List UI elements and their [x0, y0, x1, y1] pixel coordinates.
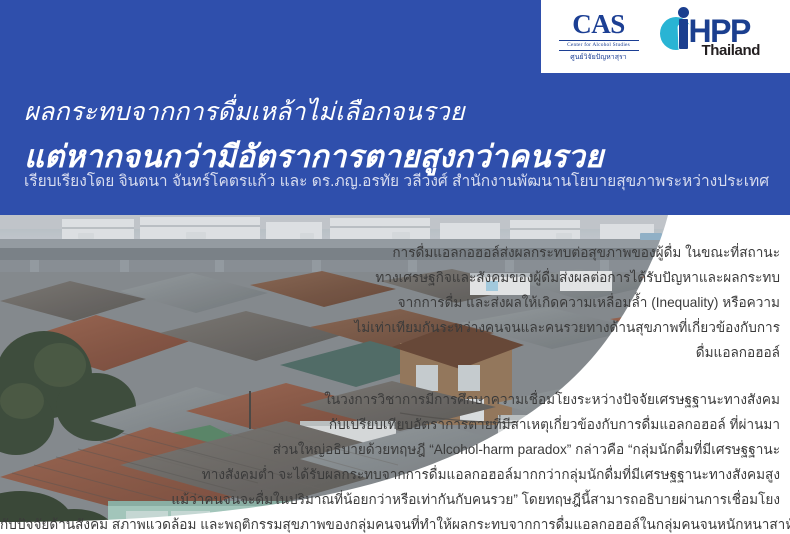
- cas-logo: CAS Center for Alcohol Studies ศูนย์วิจั…: [556, 6, 642, 68]
- ihpp-country-label: Thailand: [702, 43, 760, 59]
- cas-wordmark: CAS: [572, 11, 625, 38]
- page-title-line-1: ผลกระทบจากการดื่มเหล้าไม่เลือกจนรวย: [24, 97, 764, 127]
- body-line: ทางสังคมต่ำ จะได้รับผลกระทบจากการดื่มแอล…: [0, 462, 780, 487]
- article-body: การดื่มแอลกอฮอล์ส่งผลกระทบต่อสุขภาพของผู…: [0, 240, 790, 534]
- paragraph-2: ในวงการวิชาการมีการศึกษาความเชื่อมโยงระห…: [0, 387, 790, 534]
- paragraph-spacer: [0, 365, 790, 387]
- body-line: ในวงการวิชาการมีการศึกษาความเชื่อมโยงระห…: [0, 387, 780, 412]
- body-line: ทางเศรษฐกิจและสังคมของผู้ดื่มส่งผลต่อการ…: [0, 265, 780, 290]
- body-line: การดื่มแอลกอฮอล์ส่งผลกระทบต่อสุขภาพของผู…: [0, 240, 780, 265]
- cas-divider-bottom: [559, 50, 639, 51]
- cas-divider-top: [559, 40, 639, 41]
- ihpp-letter-i-stem: [679, 19, 688, 49]
- byline: เรียบเรียงโดย จินตนา จันทร์โคตรแก้ว และ …: [24, 172, 780, 192]
- ihpp-letter-i-dot: [678, 7, 689, 18]
- body-line: กับเปรียบเทียบอัตราการตายที่มีสาเหตุเกี่…: [0, 412, 780, 437]
- logo-plate: CAS Center for Alcohol Studies ศูนย์วิจั…: [541, 0, 790, 73]
- body-line: จากการดื่ม และส่งผลให้เกิดความเหลื่อมล้ำ…: [0, 290, 780, 315]
- body-line: ส่วนใหญ่อธิบายด้วยทฤษฎี “Alcohol-harm pa…: [0, 437, 780, 462]
- header-band: CAS Center for Alcohol Studies ศูนย์วิจั…: [0, 0, 790, 215]
- cas-subtitle-en: Center for Alcohol Studies: [567, 42, 630, 49]
- article-header-poster: CAS Center for Alcohol Studies ศูนย์วิจั…: [0, 0, 790, 534]
- body-line: ดื่มแอลกอฮอล์: [0, 340, 780, 365]
- body-line: แม้ว่าคนจนจะดื่มในปริมาณที่น้อยกว่าหรือเ…: [0, 487, 780, 512]
- ihpp-logo: HPP Thailand: [658, 7, 776, 67]
- body-line: กับปัจจัยด้านสังคม สภาพแวดล้อม และพฤติกร…: [0, 512, 780, 534]
- page-title-line-2: แต่หากจนกว่ามีอัตราการตายสูงกว่าคนรวย: [24, 138, 780, 175]
- cas-subtitle-th: ศูนย์วิจัยปัญหาสุรา: [570, 53, 626, 62]
- paragraph-1: การดื่มแอลกอฮอล์ส่งผลกระทบต่อสุขภาพของผู…: [0, 240, 790, 365]
- body-line: ไม่เท่าเทียมกันระหว่างคนจนและคนรวยทางด้า…: [0, 315, 780, 340]
